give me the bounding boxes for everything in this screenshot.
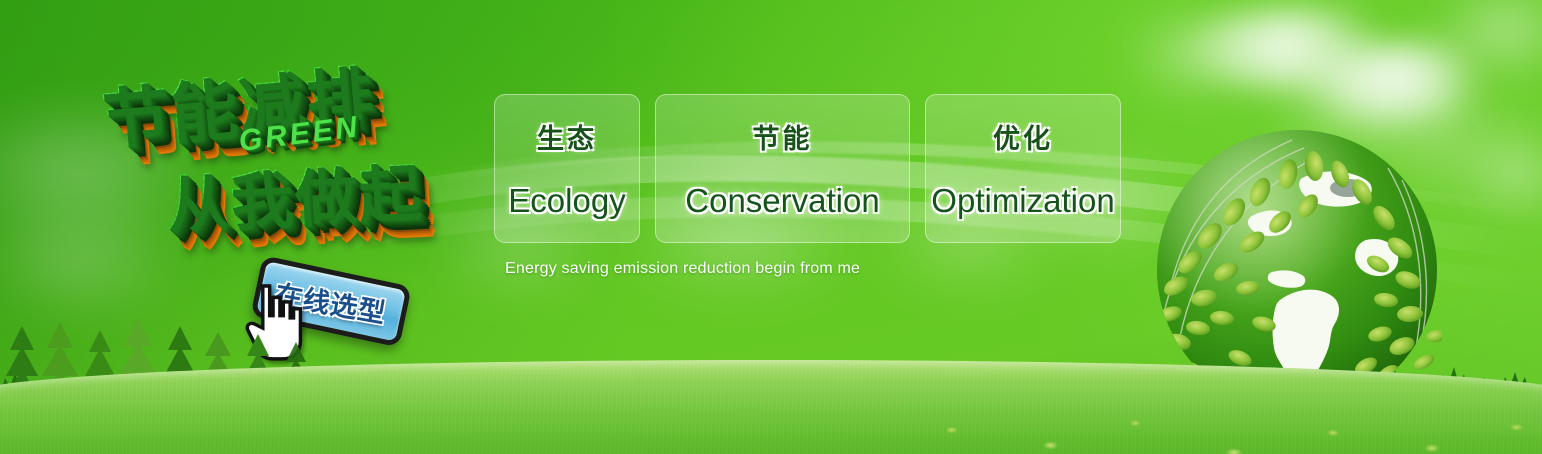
grass-field: [0, 360, 1542, 454]
feature-card-ecology-en: Ecology: [508, 182, 625, 220]
headline-line-2: 从我做起: [164, 142, 424, 245]
feature-card-optimization[interactable]: 优化 Optimization: [925, 94, 1121, 243]
feature-card-conservation-en: Conservation: [685, 182, 879, 220]
feature-card-optimization-cn: 优化: [993, 117, 1053, 156]
feature-card-ecology-cn: 生态: [537, 117, 597, 156]
fallen-leaves: [867, 402, 1542, 454]
feature-card-conservation[interactable]: 节能 Conservation: [655, 94, 910, 243]
feature-card-group: 生态 Ecology 节能 Conservation 优化 Optimizati…: [494, 94, 1121, 243]
pointing-hand-cursor-icon: [239, 281, 313, 363]
headline-3d-text: 节能减排 GREEN 从我做起: [87, 19, 506, 283]
green-energy-banner: 节能减排 GREEN 从我做起 在线选型 生态 Ecology 节能 Conse…: [0, 0, 1542, 454]
banner-tagline: Energy saving emission reduction begin f…: [505, 260, 860, 278]
feature-card-conservation-cn: 节能: [753, 117, 813, 156]
feature-card-optimization-en: Optimization: [931, 182, 1114, 220]
feature-card-ecology[interactable]: 生态 Ecology: [494, 94, 640, 243]
